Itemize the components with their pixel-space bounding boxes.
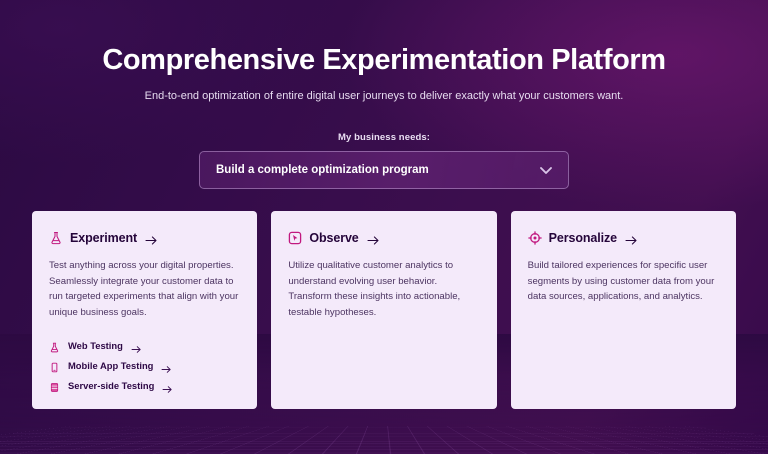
- link-server-side-testing-label: Server-side Testing: [68, 380, 154, 391]
- arrow-right-icon: [145, 233, 158, 244]
- arrow-right-icon: [625, 233, 638, 244]
- card-experiment-header[interactable]: Experiment: [49, 231, 240, 245]
- page-header: Comprehensive Experimentation Platform E…: [0, 0, 768, 102]
- card-experiment-links: Web Testing Mobile App Testing: [49, 340, 240, 391]
- link-mobile-app-testing[interactable]: Mobile App Testing: [49, 360, 240, 371]
- target-icon: [528, 231, 542, 245]
- business-needs-label: My business needs:: [0, 132, 768, 143]
- flask-icon: [49, 340, 60, 351]
- chevron-down-icon: [538, 162, 554, 178]
- mobile-phone-icon: [49, 360, 60, 371]
- card-observe-body: Utilize qualitative customer analytics t…: [288, 258, 479, 320]
- link-mobile-app-testing-label: Mobile App Testing: [68, 360, 153, 371]
- server-icon: [49, 380, 60, 391]
- link-server-side-testing[interactable]: Server-side Testing: [49, 380, 240, 391]
- arrow-right-icon: [131, 341, 142, 350]
- card-observe-header[interactable]: Observe: [288, 231, 479, 245]
- card-personalize[interactable]: Personalize Build tailored experiences f…: [511, 211, 736, 409]
- business-needs-selected-value: Build a complete optimization program: [216, 164, 429, 176]
- page-subtitle: End-to-end optimization of entire digita…: [0, 90, 768, 102]
- page-title: Comprehensive Experimentation Platform: [0, 44, 768, 77]
- flask-icon: [49, 231, 63, 245]
- link-web-testing[interactable]: Web Testing: [49, 340, 240, 351]
- arrow-right-icon: [367, 233, 380, 244]
- grid-vertical-lines: [0, 426, 768, 454]
- card-experiment-body: Test anything across your digital proper…: [49, 258, 240, 320]
- card-experiment-title: Experiment: [70, 231, 137, 245]
- business-needs-selector-block: My business needs: Build a complete opti…: [0, 132, 768, 189]
- link-web-testing-label: Web Testing: [68, 340, 123, 351]
- card-observe[interactable]: Observe Utilize qualitative customer ana…: [271, 211, 496, 409]
- cursor-box-icon: [288, 231, 302, 245]
- card-personalize-title: Personalize: [549, 231, 617, 245]
- page-root: Comprehensive Experimentation Platform E…: [0, 0, 768, 454]
- card-personalize-header[interactable]: Personalize: [528, 231, 719, 245]
- grid-horizontal-lines: [0, 426, 768, 454]
- arrow-right-icon: [161, 361, 172, 370]
- card-observe-title: Observe: [309, 231, 358, 245]
- arrow-right-icon: [162, 381, 173, 390]
- card-personalize-body: Build tailored experiences for specific …: [528, 258, 719, 305]
- card-experiment[interactable]: Experiment Test anything across your dig…: [32, 211, 257, 409]
- business-needs-dropdown[interactable]: Build a complete optimization program: [199, 151, 569, 189]
- feature-cards: Experiment Test anything across your dig…: [0, 211, 768, 409]
